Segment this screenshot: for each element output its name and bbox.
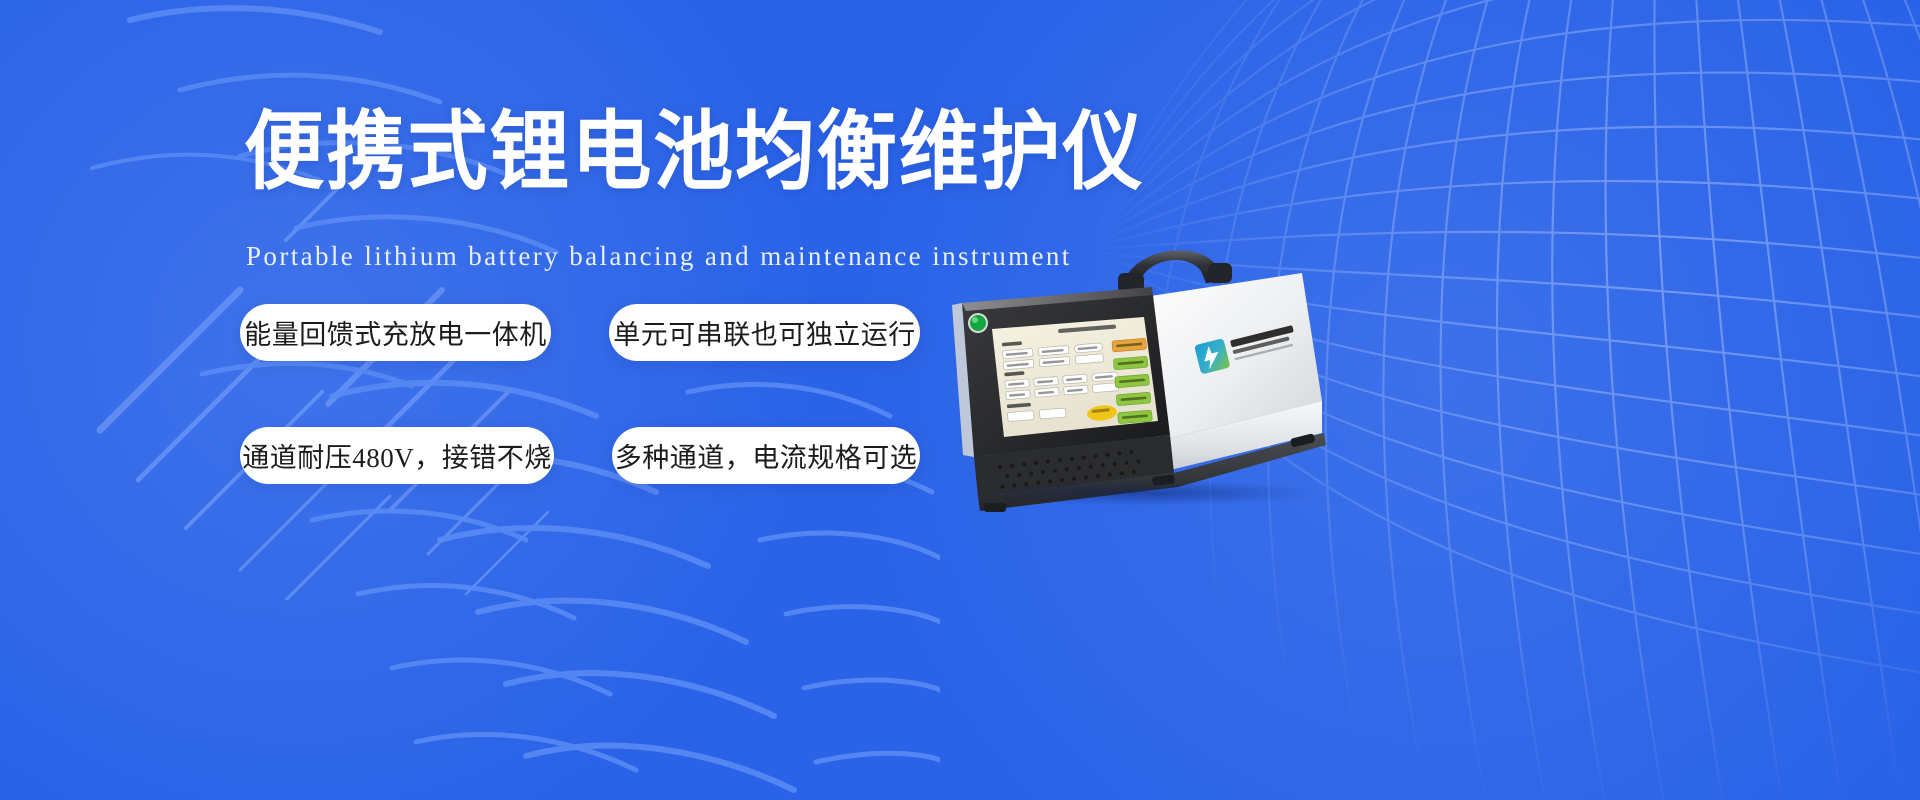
device-screen xyxy=(992,317,1158,437)
feature-pill-series-or-standalone[interactable]: 单元可串联也可独立运行 xyxy=(609,304,920,361)
feature-pill-list: 能量回馈式充放电一体机 单元可串联也可独立运行 通道耐压480V，接错不烧 多种… xyxy=(240,304,920,550)
feature-pill-row-2: 通道耐压480V，接错不烧 多种通道，电流规格可选 xyxy=(240,427,920,484)
promo-banner: 便携式锂电池均衡维护仪 Portable lithium battery bal… xyxy=(0,0,1920,800)
power-indicator-icon xyxy=(968,313,988,333)
device-illustration xyxy=(930,225,1360,515)
banner-content: 便携式锂电池均衡维护仪 Portable lithium battery bal… xyxy=(0,0,1920,800)
feature-pill-row-1: 能量回馈式充放电一体机 单元可串联也可独立运行 xyxy=(240,304,920,361)
feature-pill-channel-voltage[interactable]: 通道耐压480V，接错不烧 xyxy=(240,427,554,484)
device-shadow xyxy=(970,480,1320,506)
page-title: 便携式锂电池均衡维护仪 xyxy=(244,104,1144,200)
device-image xyxy=(930,225,1360,515)
feature-pill-energy-feedback[interactable]: 能量回馈式充放电一体机 xyxy=(240,304,551,361)
feature-pill-channel-current-options[interactable]: 多种通道，电流规格可选 xyxy=(612,427,920,484)
